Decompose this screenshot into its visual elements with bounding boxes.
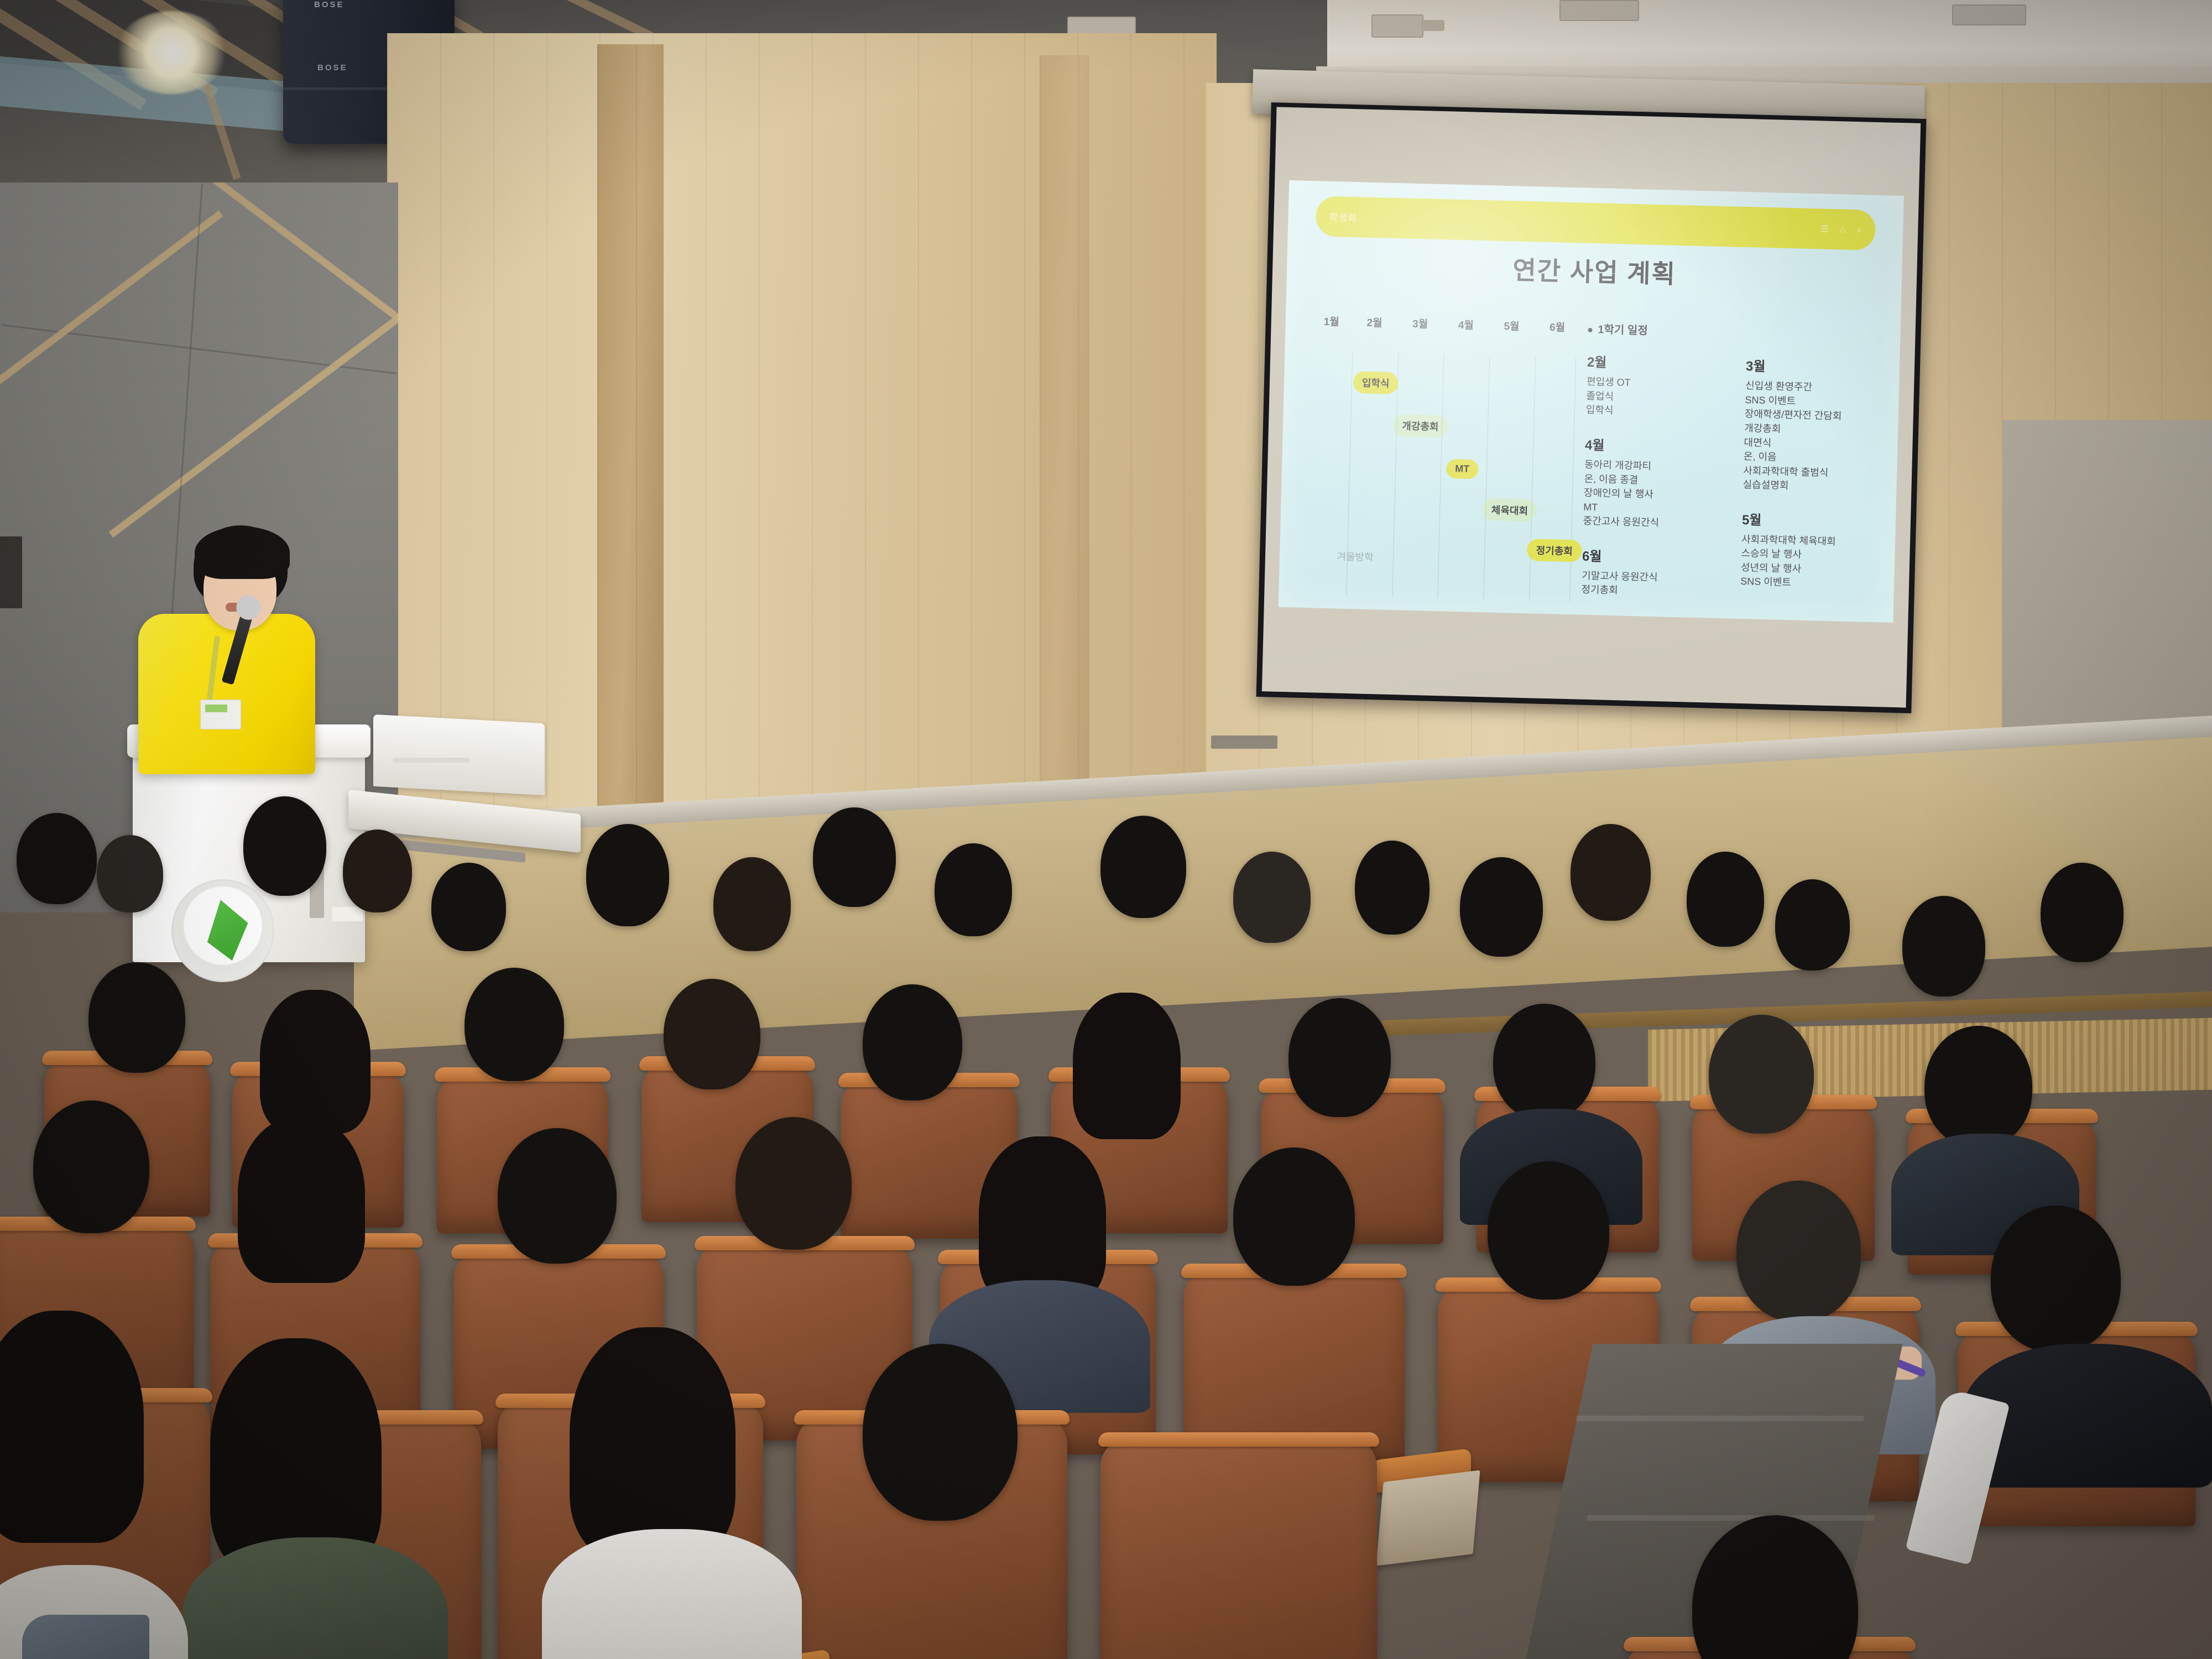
timeline-month: 4월 bbox=[1458, 317, 1474, 332]
timeline-month: 3월 bbox=[1412, 316, 1428, 331]
slide-topbar: 학생회 ☰ ⌂ ⌕ bbox=[1315, 196, 1876, 251]
presentation-slide: 학생회 ☰ ⌂ ⌕ 연간 사업 계획 1월 2월 3월 bbox=[1278, 180, 1904, 623]
sleeve bbox=[22, 1615, 149, 1659]
auditorium-photo: BOSE BOSE 학생회 ☰ bbox=[0, 0, 2212, 1659]
wall-fixture bbox=[0, 536, 22, 608]
search-icon: ⌕ bbox=[1856, 225, 1862, 236]
agenda-month: 5월 bbox=[1742, 509, 1877, 531]
timeline-month: 5월 bbox=[1504, 318, 1520, 333]
name-badge bbox=[200, 700, 241, 729]
agenda-month: 4월 bbox=[1585, 434, 1720, 457]
timeline-event-chip: 입학식 bbox=[1353, 371, 1399, 394]
wall-column bbox=[1040, 55, 1089, 874]
right-acoustic-panel bbox=[2002, 420, 2212, 763]
agenda-column-left: 2월 편입생 OT 졸업식 입학식 4월 동아리 개강파티 온, 이음 종결 장… bbox=[1581, 351, 1723, 605]
agenda-panel: 1학기 일정 2월 편입생 OT 졸업식 입학식 4월 동아리 개강파티 온, … bbox=[1572, 320, 1882, 609]
projection-screen: 학생회 ☰ ⌂ ⌕ 연간 사업 계획 1월 2월 3월 bbox=[1256, 102, 1927, 713]
presenter bbox=[133, 531, 365, 763]
bose-logo: BOSE bbox=[317, 63, 356, 72]
slide-brand: 학생회 bbox=[1329, 210, 1357, 224]
agenda-month: 6월 bbox=[1582, 545, 1718, 567]
timeline-event-chip: MT bbox=[1446, 459, 1479, 479]
ceiling-vent bbox=[1952, 4, 2026, 25]
slide-title: 연간 사업 계획 bbox=[1286, 244, 1902, 296]
agenda-item: 중간고사 응원간식 bbox=[1583, 514, 1718, 532]
ceiling-vent bbox=[1559, 0, 1639, 21]
timeline-month: 6월 bbox=[1550, 319, 1566, 335]
ceiling-sprinkler bbox=[1421, 20, 1444, 31]
agenda-column-right: 3월 신입생 환영주간 SNS 이벤트 장애학생/편자전 간담회 개강총회 대면… bbox=[1740, 355, 1881, 609]
agenda-heading: 1학기 일정 bbox=[1588, 320, 1648, 338]
bullet-icon bbox=[1588, 328, 1592, 332]
agenda-month: 3월 bbox=[1746, 355, 1881, 378]
left-panel-bracket bbox=[1211, 735, 1277, 749]
timeline-month: 1월 bbox=[1323, 314, 1339, 329]
timeline-chart: 1월 2월 3월 4월 5월 6월 입학식 bbox=[1303, 313, 1579, 601]
wall-column bbox=[597, 44, 664, 874]
agenda-item: 입학식 bbox=[1585, 403, 1721, 421]
agenda-item: SNS 이벤트 bbox=[1740, 575, 1876, 592]
monitor-bezel bbox=[393, 758, 470, 763]
timeline-vacation-label: 겨울방학 bbox=[1328, 545, 1383, 568]
timeline-event-chip: 체육대회 bbox=[1482, 498, 1537, 521]
agenda-item: 정기총회 bbox=[1581, 583, 1717, 601]
audience-row-1 bbox=[0, 1277, 2212, 1659]
agenda-item: 실습설명회 bbox=[1743, 478, 1878, 495]
menu-icon: ☰ bbox=[1820, 223, 1829, 234]
timeline-event-chip: 개강총회 bbox=[1393, 414, 1448, 437]
home-icon: ⌂ bbox=[1840, 224, 1846, 235]
timeline-month: 2월 bbox=[1366, 315, 1383, 330]
ceiling-vent bbox=[1371, 14, 1423, 38]
spot-light bbox=[116, 11, 227, 94]
bose-logo: BOSE bbox=[314, 0, 353, 9]
agenda-month: 2월 bbox=[1587, 351, 1723, 374]
